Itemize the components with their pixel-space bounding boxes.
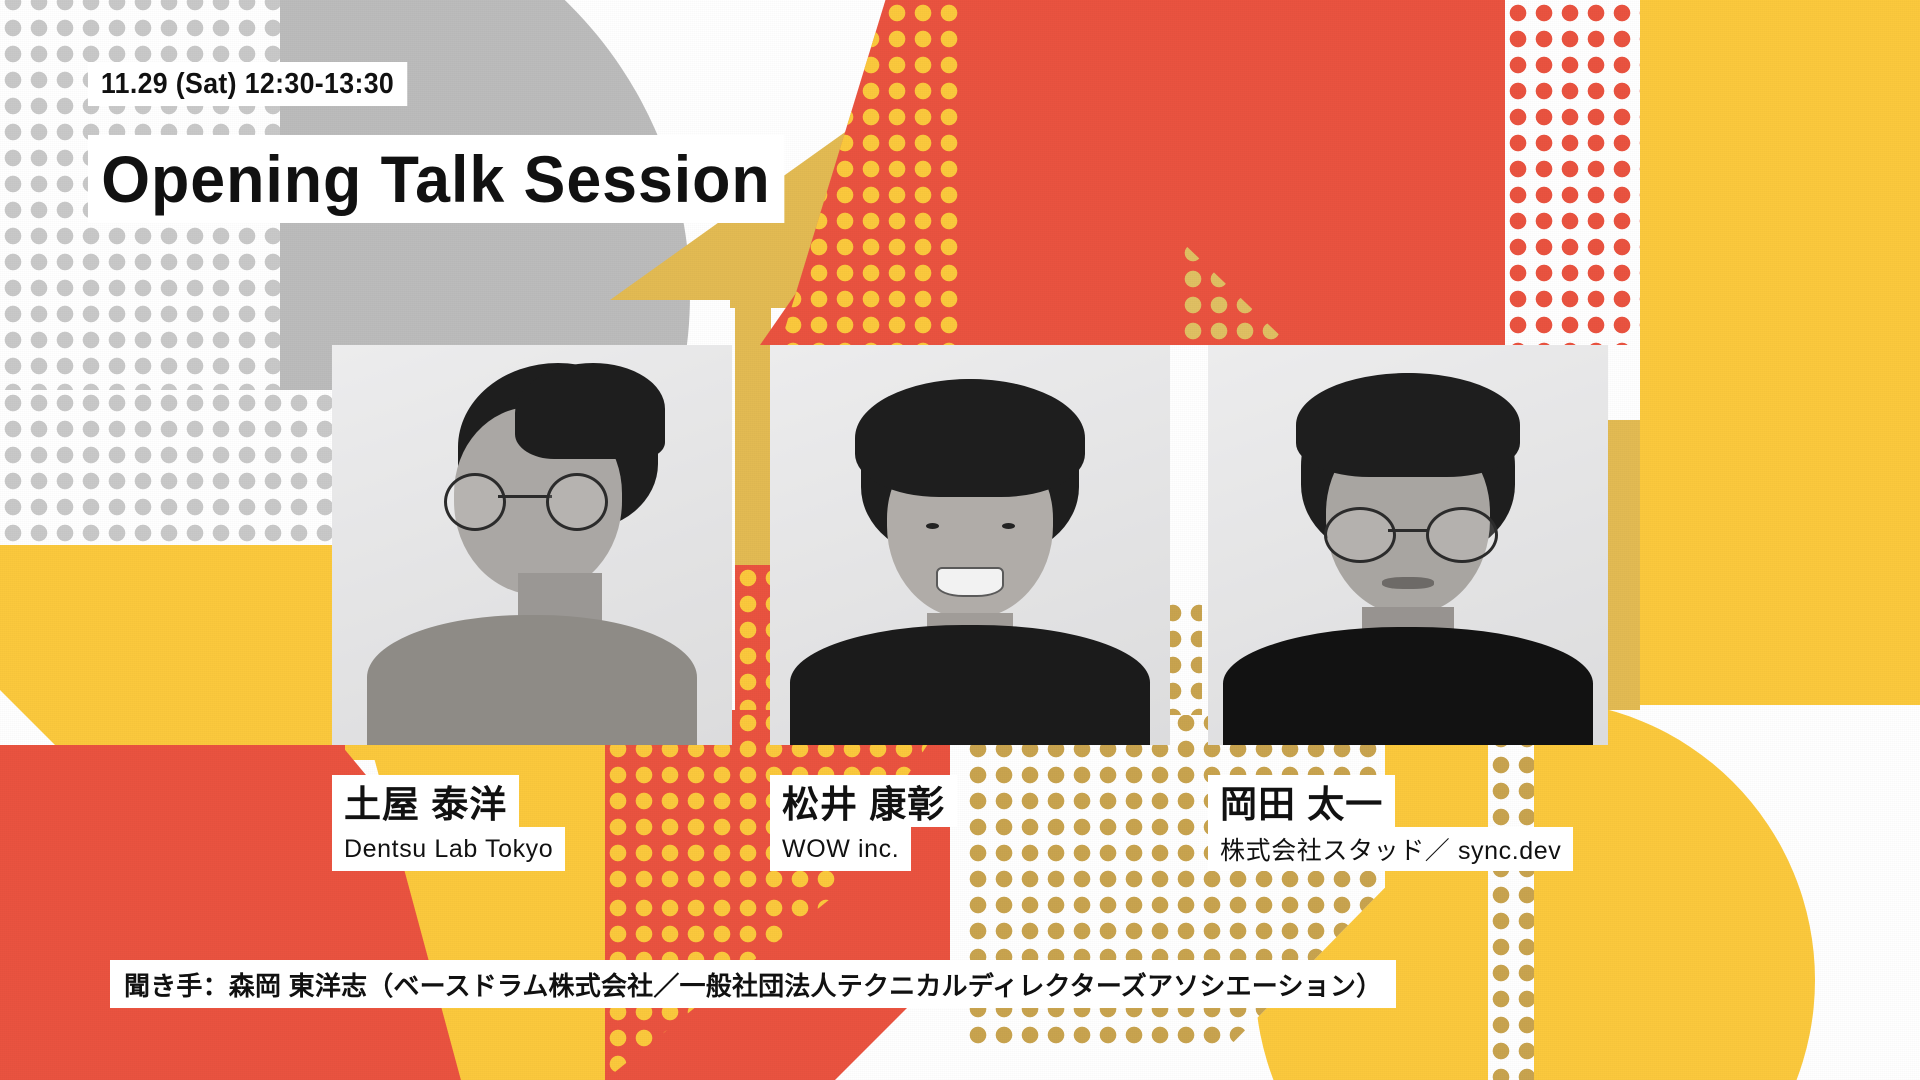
event-poster: 11.29 (Sat) 12:30-13:30 Opening Talk Ses…: [0, 0, 1920, 1080]
speaker-3-org: 株式会社スタッド／ sync.dev: [1208, 827, 1573, 871]
speaker-2-name: 松井 康彰: [770, 775, 957, 827]
red-dot-block-right-upper: [1505, 0, 1640, 345]
speaker-photo-3: [1208, 345, 1608, 745]
speaker-1-name: 土屋 泰洋: [332, 775, 519, 827]
yellow-block-right-upper: [1640, 0, 1920, 345]
gold-vertical-strip: [735, 268, 771, 568]
speaker-photo-2: [770, 345, 1170, 745]
yellow-dot-strip-between-photos: [735, 565, 771, 710]
speaker-photo-1: [332, 345, 732, 745]
page-title: Opening Talk Session: [88, 135, 784, 223]
moderator-line: 聞き手：森岡 東洋志（ベースドラム株式会社／一般社団法人テクニカルディレクターズ…: [110, 960, 1396, 1008]
speaker-1-org: Dentsu Lab Tokyo: [332, 827, 565, 871]
gold-dot-strip-right-edge: [1488, 700, 1534, 1080]
speaker-3-name: 岡田 太一: [1208, 775, 1395, 827]
yellow-block-right-mid: [1640, 345, 1920, 705]
event-datetime: 11.29 (Sat) 12:30-13:30: [88, 62, 407, 106]
red-strip-bottom-left-edge: [0, 745, 120, 1080]
speaker-2-org: WOW inc.: [770, 827, 911, 871]
gray-dot-block: [0, 390, 345, 545]
